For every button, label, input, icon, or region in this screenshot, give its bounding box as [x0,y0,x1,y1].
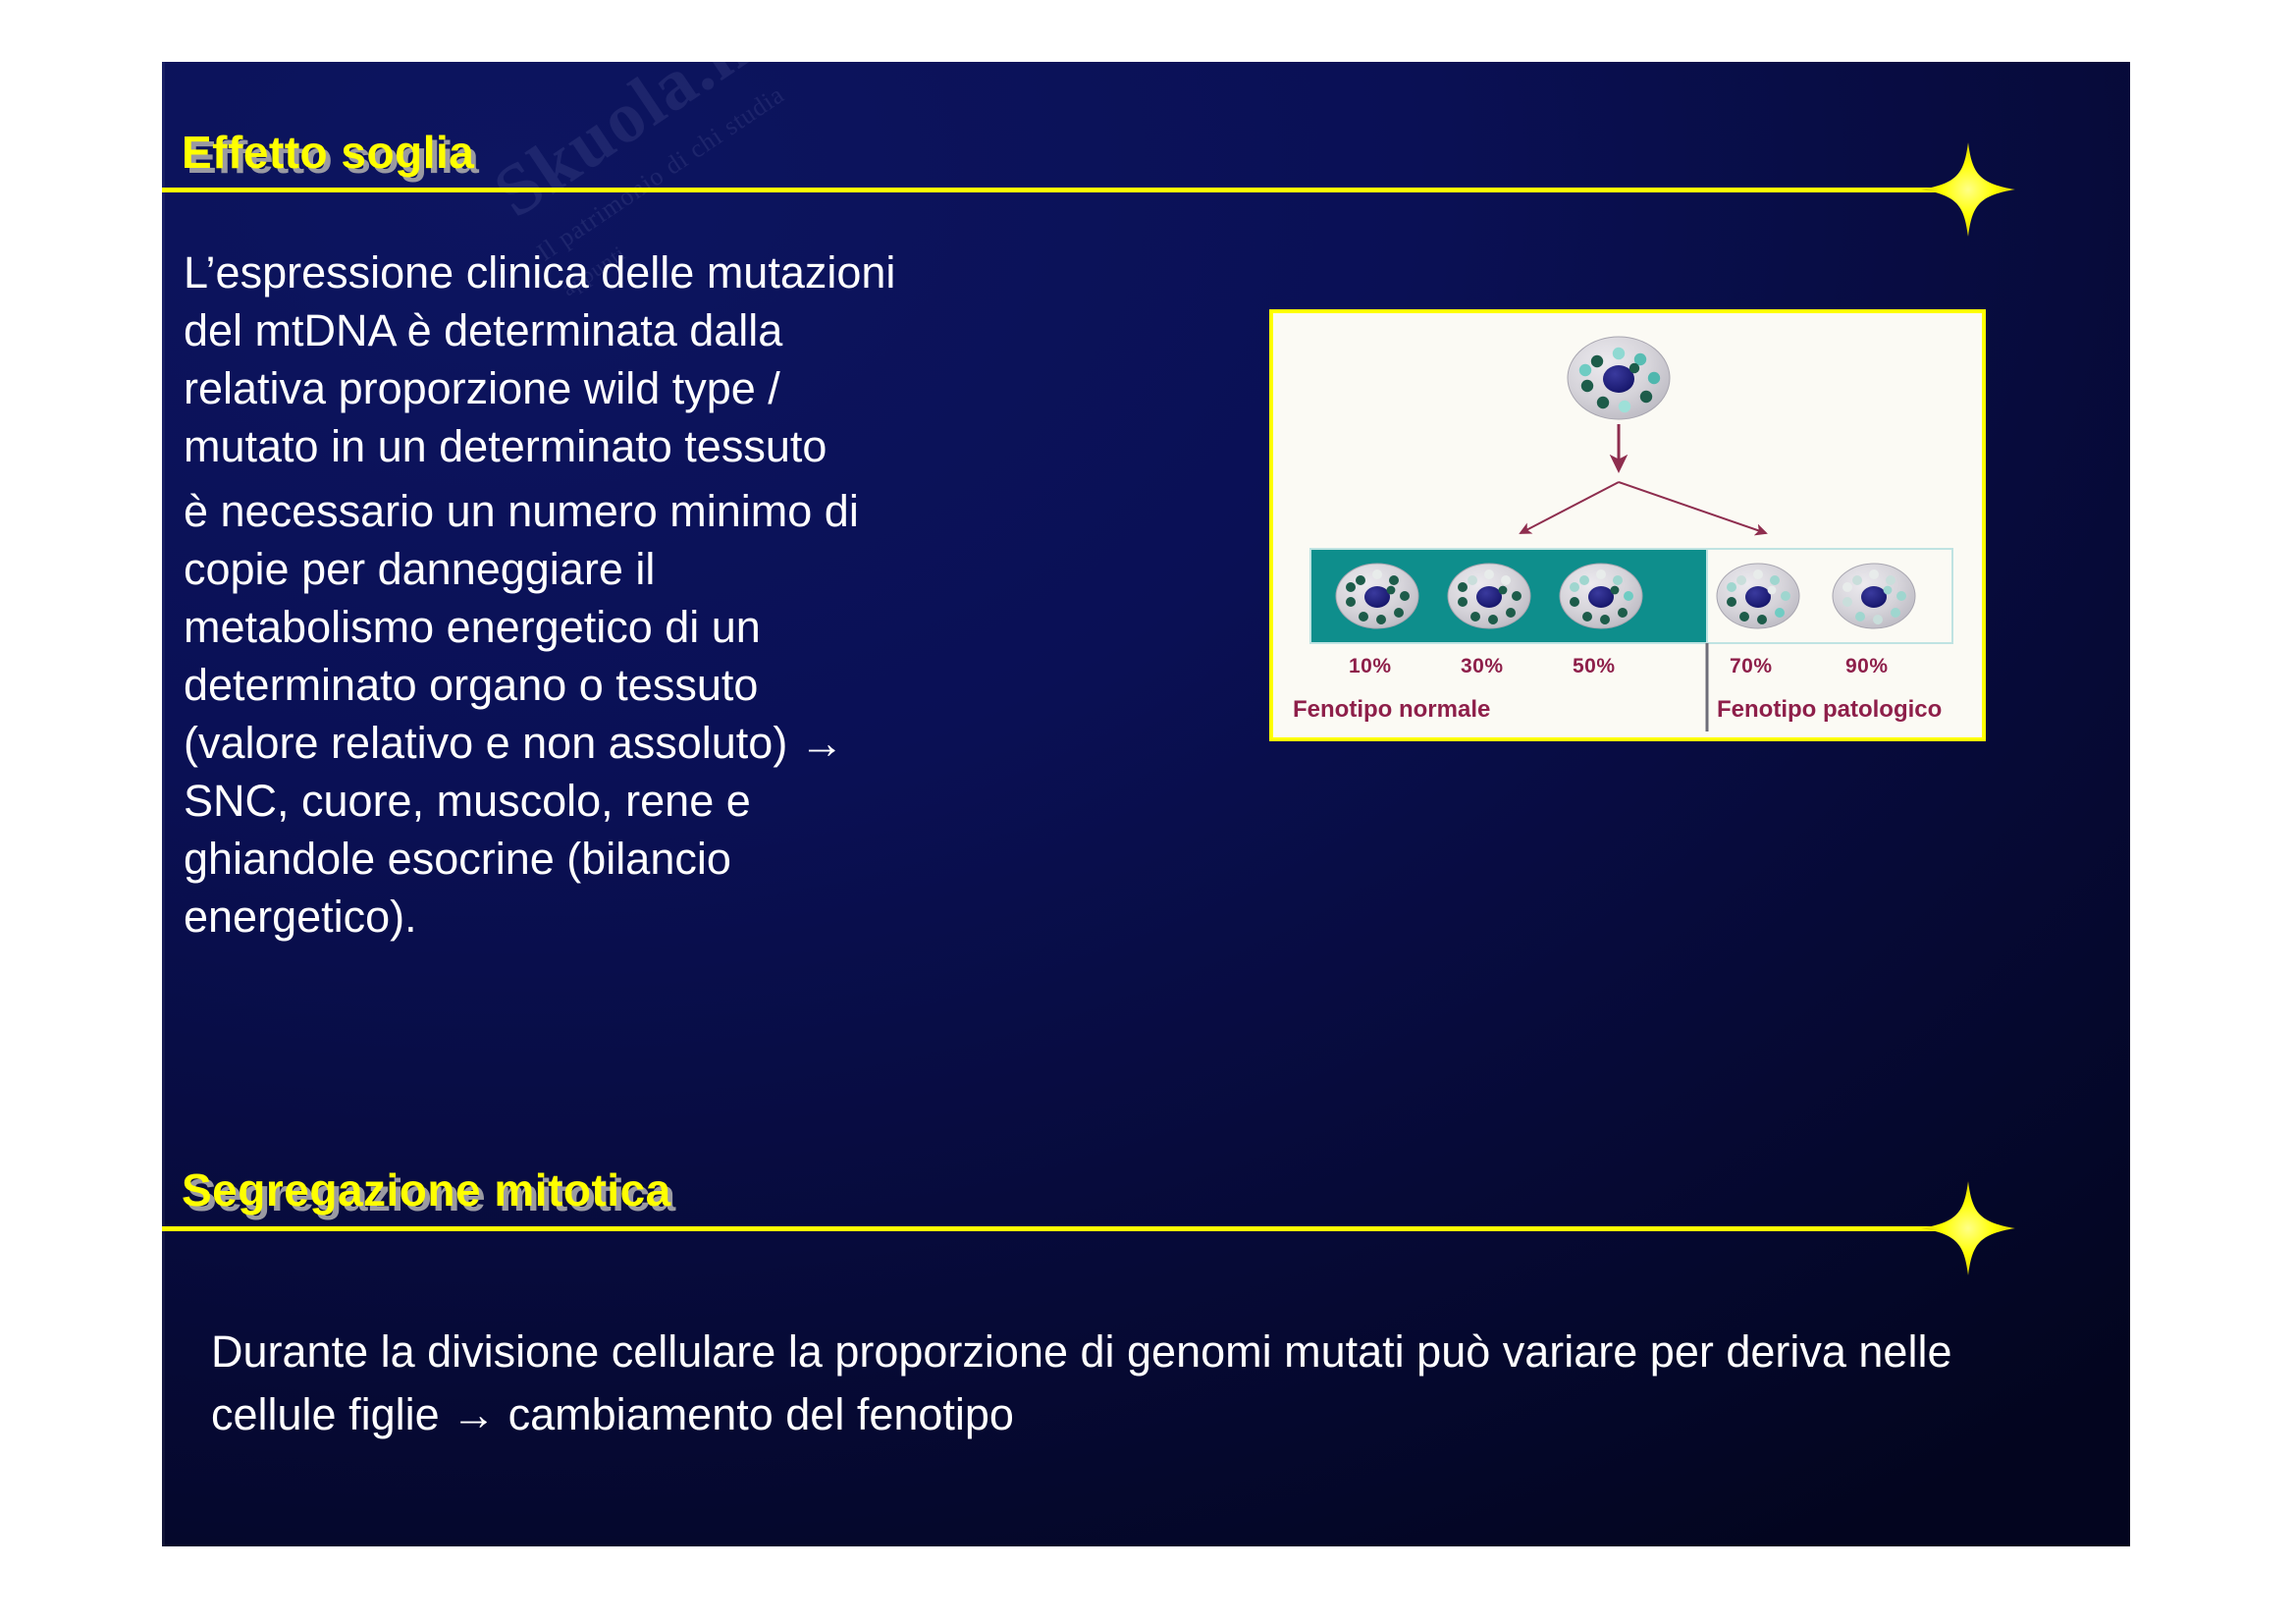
section-heading-effetto-soglia: Effetto soglia [182,126,474,179]
pct-label-30: 30% [1461,655,1504,678]
heading-rule-2 [162,1226,1966,1231]
watermark-line-1: Skuola.net [480,62,869,235]
pct-label-70: 70% [1730,655,1773,678]
sparkle-star-icon [1917,138,2019,241]
pct-label-10: 10% [1349,655,1392,678]
paragraph-mitotic-segregation: Durante la divisione cellulare la propor… [211,1321,2076,1446]
watermark-line-2: Il patrimonio di chi studia [532,62,890,267]
band-label-pathological: Fenotipo patologico [1717,696,1942,724]
pct-label-90: 90% [1845,655,1889,678]
slide-canvas: Skuola.net Il patrimonio di chi studia a… [162,62,2130,1546]
section-heading-segregazione-mitotica: Segregazione mitotica [182,1163,671,1217]
band-label-normal: Fenotipo normale [1293,696,1490,724]
slide-left-accent [162,62,165,1546]
heteroplasmy-threshold-figure: 10% 30% 50% 70% 90% Fenotipo normale Fen… [1269,309,1986,741]
paragraph-clinical-expression: L’espressione clinica delle mutazioni de… [184,243,900,475]
heading-rule-1 [162,188,1966,192]
sparkle-star-icon [1917,1177,2019,1279]
paragraph-minimum-copies: è necessario un numero minimo di copie p… [184,482,900,946]
pct-label-50: 50% [1573,655,1616,678]
